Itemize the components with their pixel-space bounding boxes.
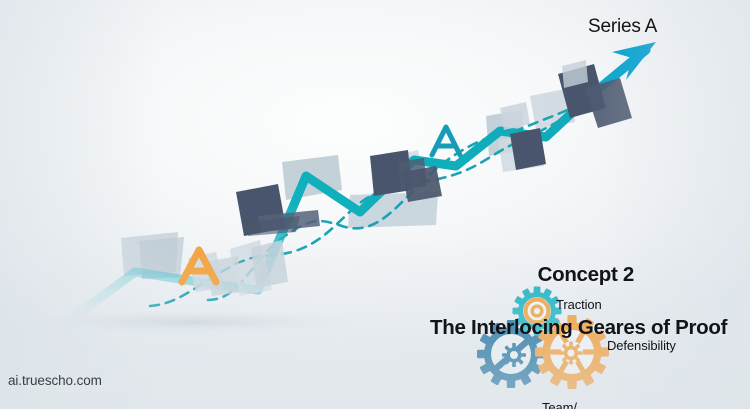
watermark-url: ai.truescho.com xyxy=(8,373,102,388)
gear-label-team-founders: Team/ Founders xyxy=(542,371,596,409)
stage-marker-2-icon xyxy=(432,127,460,155)
concept-title-line2: The Interlocing Geares of Proof xyxy=(430,315,720,341)
gear-label-traction: Traction xyxy=(556,298,602,313)
gear-label-defensibility: Defensibility xyxy=(607,339,676,354)
series-a-label: Series A xyxy=(588,16,657,38)
concept-title-line1: Concept 2 xyxy=(538,263,634,286)
infographic-canvas: Series A Concept 2 The Interlocing Geare… xyxy=(0,0,750,409)
concept-title-block: Concept 2 The Interlocing Geares of Proo… xyxy=(430,236,720,393)
gear-label-team-line1: Team/ xyxy=(542,401,596,409)
